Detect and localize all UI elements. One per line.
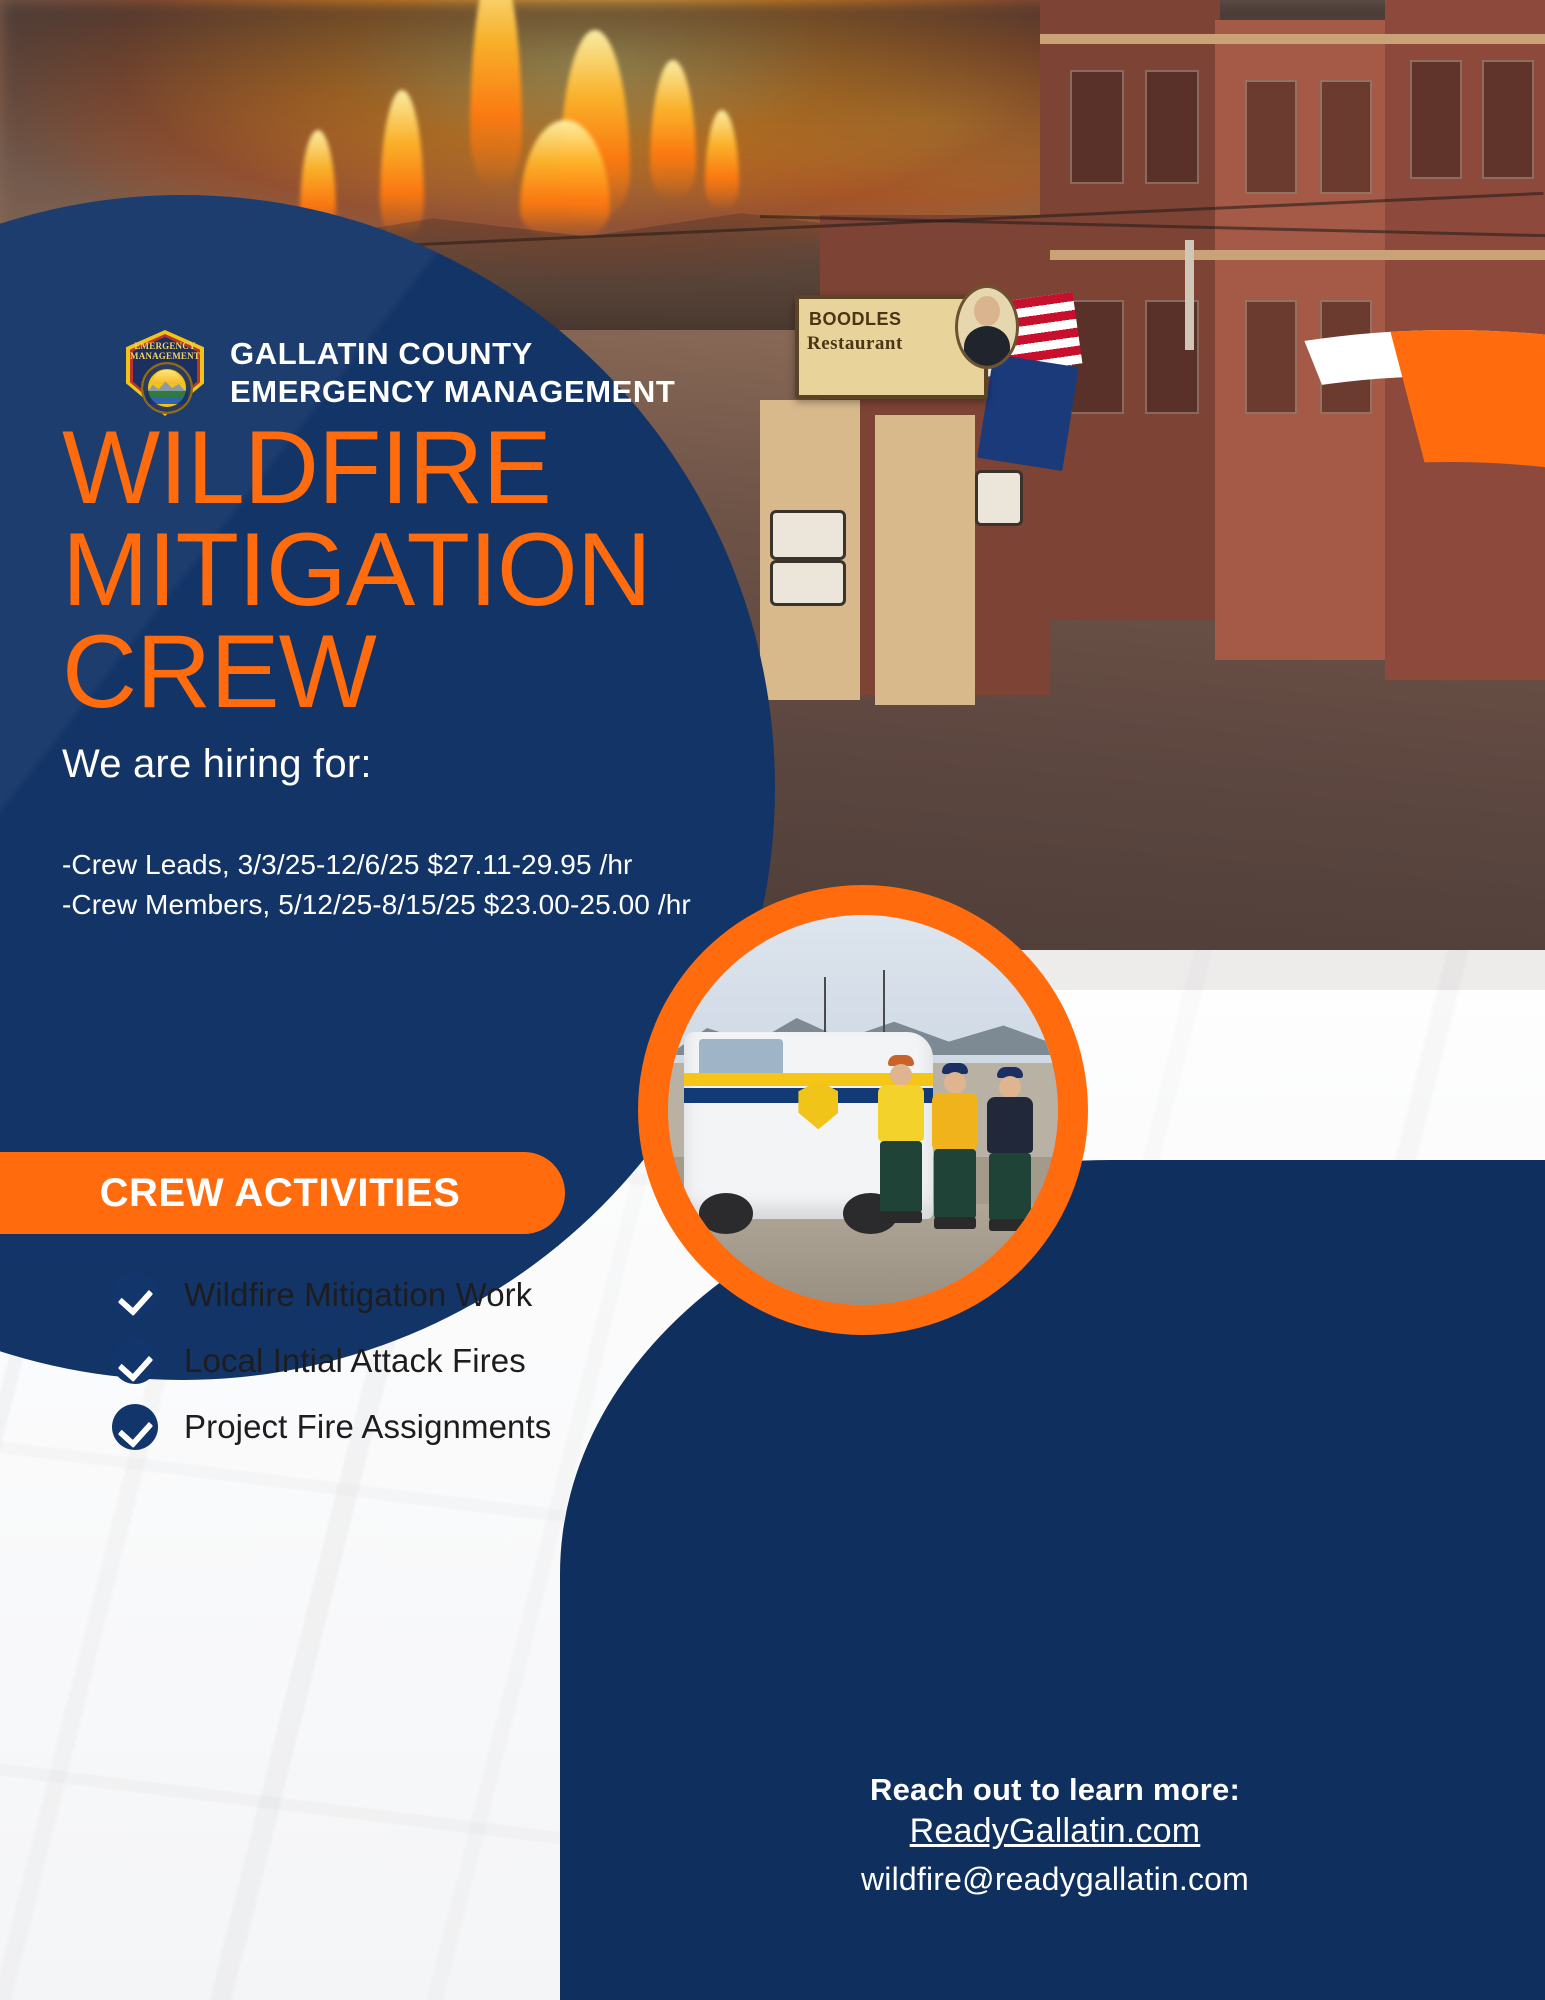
window bbox=[1145, 70, 1199, 184]
yellow-nomex-shirt bbox=[878, 1085, 924, 1141]
emergency-management-shield-icon: EMERGENCY MANAGEMENT bbox=[126, 330, 204, 416]
position-line-crew-leads: -Crew Leads, 3/3/25-12/6/25 $27.11-29.95… bbox=[62, 845, 691, 885]
green-pants bbox=[880, 1141, 922, 1213]
hiring-positions: -Crew Leads, 3/3/25-12/6/25 $27.11-29.95… bbox=[62, 845, 691, 925]
position-line-crew-members: -Crew Members, 5/12/25-8/15/25 $23.00-25… bbox=[62, 885, 691, 925]
boots bbox=[934, 1217, 976, 1229]
shield-text-line1: EMERGENCY bbox=[126, 341, 204, 351]
crew-photo-ring bbox=[638, 885, 1088, 1335]
flyer-canvas: BOODLES Restaurant EMERGENCY MANAGEMENT bbox=[0, 0, 1545, 2000]
list-item: Local Intial Attack Fires bbox=[112, 1338, 551, 1384]
cornice bbox=[1040, 250, 1545, 260]
portrait-head bbox=[974, 296, 1000, 326]
green-pants bbox=[934, 1149, 976, 1219]
crew-head bbox=[999, 1076, 1021, 1098]
crew-activities-banner: CREW ACTIVITIES bbox=[0, 1152, 565, 1234]
window bbox=[1410, 60, 1462, 179]
activity-label: Wildfire Mitigation Work bbox=[184, 1276, 532, 1314]
window bbox=[1320, 80, 1372, 194]
check-circle-icon bbox=[112, 1338, 158, 1384]
boots bbox=[880, 1211, 922, 1223]
page-title: WILDFIRE MITIGATION CREW bbox=[62, 418, 651, 724]
organization-name: GALLATIN COUNTY EMERGENCY MANAGEMENT bbox=[230, 335, 675, 411]
contact-prompt: Reach out to learn more: bbox=[655, 1772, 1455, 1808]
contact-email-link[interactable]: wildfire@readygallatin.com bbox=[655, 1861, 1455, 1898]
window bbox=[1070, 70, 1124, 184]
list-item: Project Fire Assignments bbox=[112, 1404, 551, 1450]
organization-name-line2: EMERGENCY MANAGEMENT bbox=[230, 373, 675, 411]
seal-ring bbox=[143, 364, 191, 412]
yellow-nomex-shirt bbox=[932, 1093, 978, 1149]
green-pants bbox=[989, 1153, 1031, 1221]
organization-name-line1: GALLATIN COUNTY bbox=[230, 335, 675, 373]
crew-member bbox=[871, 1055, 931, 1281]
sign-line-1: BOODLES bbox=[809, 309, 902, 330]
hiring-intro: We are hiring for: bbox=[62, 742, 372, 787]
navy-jacket bbox=[987, 1097, 1033, 1153]
page-title-line3: CREW bbox=[62, 622, 651, 724]
window bbox=[1482, 60, 1534, 179]
page-title-line1: WILDFIRE bbox=[62, 418, 651, 520]
crew-member bbox=[980, 1067, 1040, 1282]
window bbox=[1245, 80, 1297, 194]
crew-head bbox=[890, 1064, 912, 1086]
boots bbox=[989, 1219, 1031, 1231]
brand-header: EMERGENCY MANAGEMENT GALLATIN COUNTY EME… bbox=[126, 330, 675, 416]
county-seal-icon bbox=[141, 362, 193, 414]
activity-label: Project Fire Assignments bbox=[184, 1408, 551, 1446]
activity-label: Local Intial Attack Fires bbox=[184, 1342, 526, 1380]
shield-text-line2: MANAGEMENT bbox=[126, 351, 204, 361]
crew-member bbox=[925, 1063, 985, 1281]
check-circle-icon bbox=[112, 1272, 158, 1318]
contact-website-link[interactable]: ReadyGallatin.com bbox=[655, 1812, 1455, 1851]
crew-activities-list: Wildfire Mitigation Work Local Intial At… bbox=[112, 1272, 551, 1450]
cornice bbox=[1040, 34, 1545, 44]
page-title-line2: MITIGATION bbox=[62, 520, 651, 622]
truck-window bbox=[699, 1039, 784, 1076]
crew-head bbox=[944, 1072, 966, 1094]
list-item: Wildfire Mitigation Work bbox=[112, 1272, 551, 1318]
crew-photo bbox=[668, 915, 1058, 1305]
check-circle-icon bbox=[112, 1404, 158, 1450]
flame-icon bbox=[470, 0, 522, 190]
crew-activities-label: CREW ACTIVITIES bbox=[45, 1171, 461, 1216]
truck-wheel bbox=[699, 1193, 754, 1234]
contact-block: Reach out to learn more: ReadyGallatin.c… bbox=[655, 1772, 1455, 1898]
